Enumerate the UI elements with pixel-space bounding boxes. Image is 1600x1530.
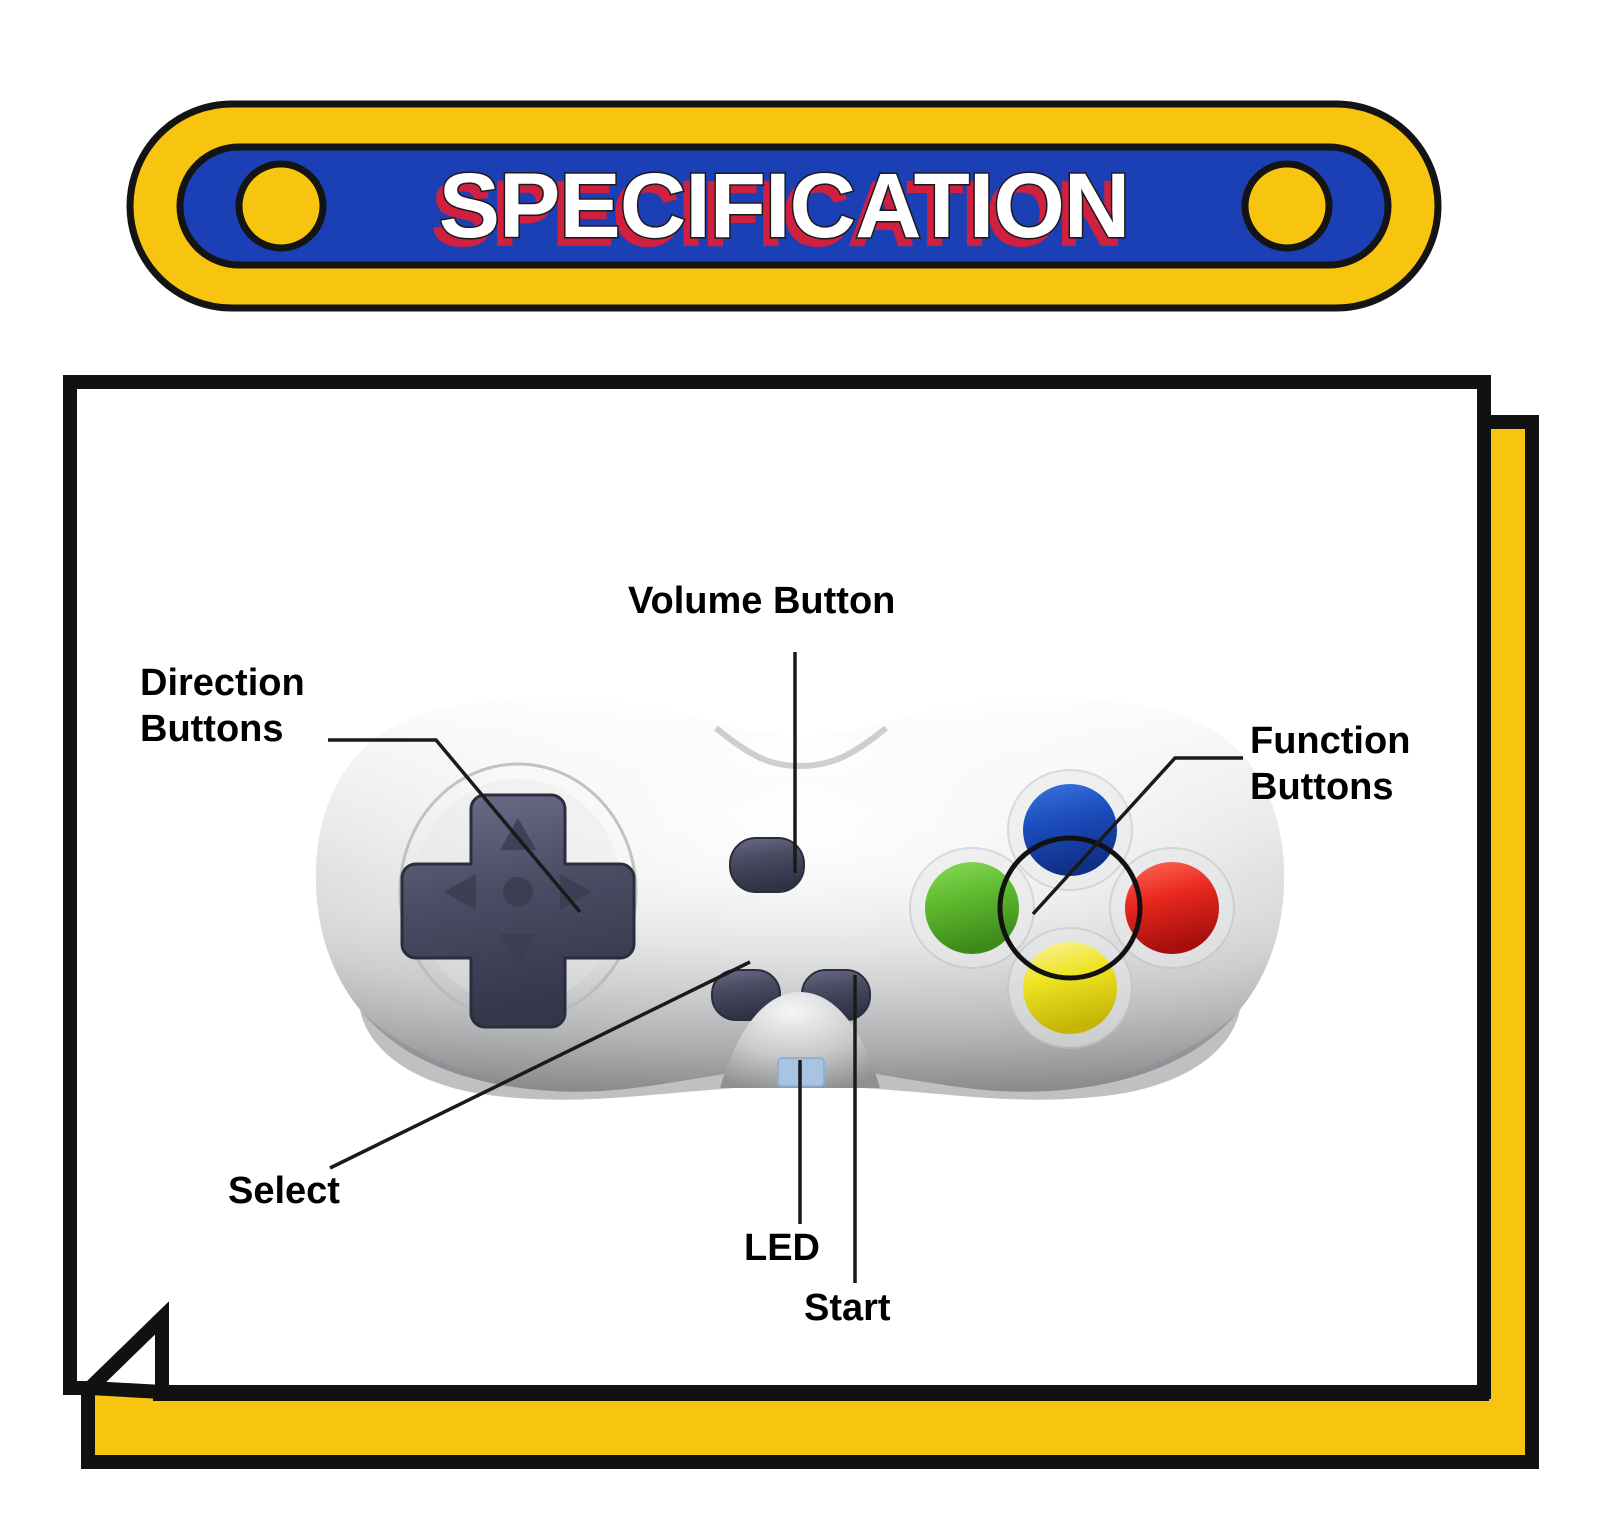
callout-label-direction-buttons: Direction Buttons <box>140 660 305 753</box>
top-notch-highlight <box>708 730 892 782</box>
callout-label-start: Start <box>804 1285 891 1331</box>
specification-page: SPECIFICATION SPECIFICATION <box>0 0 1600 1530</box>
yellow-button[interactable] <box>1023 942 1117 1034</box>
led-indicator <box>778 1058 824 1086</box>
callout-label-led: LED <box>744 1225 820 1271</box>
callout-label-volume-button: Volume Button <box>628 578 895 624</box>
volume-button-cap[interactable] <box>730 838 804 892</box>
page-title: SPECIFICATION <box>439 154 1130 259</box>
controller-graphic <box>300 670 1300 1190</box>
banner-title-block: SPECIFICATION SPECIFICATION <box>126 100 1442 312</box>
d-pad-center-dot[interactable] <box>503 877 533 907</box>
blue-button[interactable] <box>1023 784 1117 876</box>
game-controller <box>300 670 1300 1190</box>
callout-label-select: Select <box>228 1168 340 1214</box>
green-button[interactable] <box>925 862 1019 954</box>
specification-banner: SPECIFICATION SPECIFICATION <box>126 100 1442 312</box>
volume-button[interactable] <box>730 838 804 892</box>
callout-label-function-buttons: Function Buttons <box>1250 718 1410 811</box>
